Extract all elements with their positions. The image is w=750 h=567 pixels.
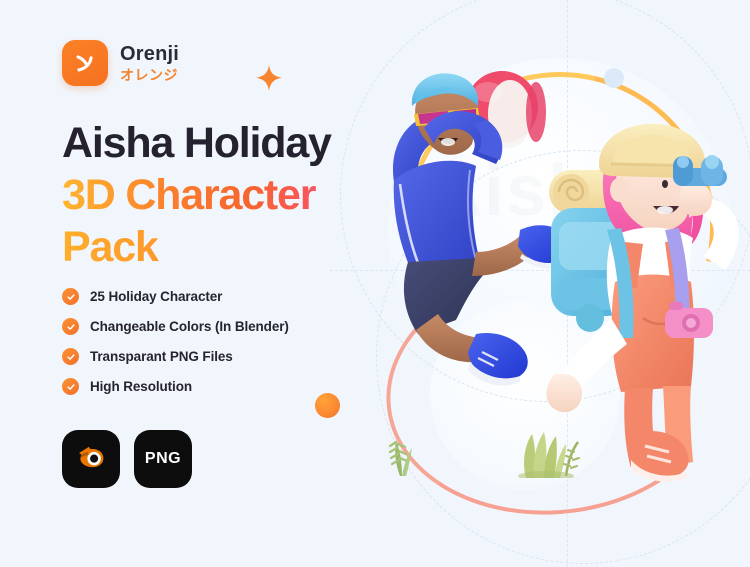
soft-glow-circle-small [430, 300, 620, 490]
jumper-shoe-upper [518, 225, 570, 269]
bedroll-prop [549, 170, 623, 214]
feature-label: 25 Holiday Character [90, 289, 222, 304]
blender-logo-icon [76, 442, 106, 477]
png-badge[interactable]: PNG [134, 430, 192, 488]
title-line-3: Pack [62, 226, 422, 270]
check-circle-icon [62, 348, 79, 365]
list-item: 25 Holiday Character [62, 288, 289, 305]
brand-lockup[interactable]: Orenji オレンジ [62, 40, 179, 86]
title-line-1: Aisha Holiday [62, 122, 422, 166]
promo-banner: Aisha [0, 0, 750, 567]
coral-arc-decoration [374, 249, 736, 531]
page-title: Aisha Holiday 3D Character Pack [62, 122, 422, 270]
brand-name: Orenji [120, 44, 179, 64]
feature-label: Transparant PNG Files [90, 349, 233, 364]
check-circle-icon [62, 378, 79, 395]
bush-plant [508, 424, 582, 478]
jumper-head [412, 73, 480, 154]
list-item: Transparant PNG Files [62, 348, 289, 365]
watermark-text: Aisha [430, 150, 636, 232]
fern-plant [384, 432, 416, 476]
check-circle-icon [62, 318, 79, 335]
list-item: Changeable Colors (In Blender) [62, 318, 289, 335]
dashed-guide-vertical [567, 0, 568, 567]
dashed-guide-ring-bottom [376, 150, 750, 564]
binoculars-prop [673, 155, 727, 186]
four-point-star-icon [255, 64, 283, 92]
dashed-guide-horizontal [330, 270, 750, 271]
feature-label: High Resolution [90, 379, 192, 394]
brand-text-block: Orenji オレンジ [120, 44, 179, 82]
brand-subtitle-japanese: オレンジ [120, 68, 179, 82]
jumper-shoe-lower [468, 333, 528, 386]
blender-badge[interactable] [62, 430, 120, 488]
orenji-logo-icon [62, 40, 108, 86]
png-format-icon: PNG [145, 450, 181, 468]
hiker-raised-arm [679, 182, 739, 270]
hiker-overalls [612, 240, 694, 392]
hiking-character [545, 112, 750, 492]
format-badges: PNG [62, 430, 192, 488]
feature-list: 25 Holiday Character Changeable Colors (… [62, 288, 289, 395]
hiker-shoe [631, 431, 689, 482]
orange-circle-dot [315, 393, 340, 418]
title-line-2: 3D Character [62, 174, 422, 218]
soft-glow-circle-large [388, 58, 732, 402]
blue-circle-dot [604, 68, 624, 88]
camera-prop [665, 302, 713, 338]
feature-label: Changeable Colors (In Blender) [90, 319, 289, 334]
hiker-head [599, 124, 705, 248]
check-circle-icon [62, 288, 79, 305]
backpack-prop [551, 208, 629, 332]
list-item: High Resolution [62, 378, 289, 395]
beach-ball-prop [466, 71, 546, 148]
